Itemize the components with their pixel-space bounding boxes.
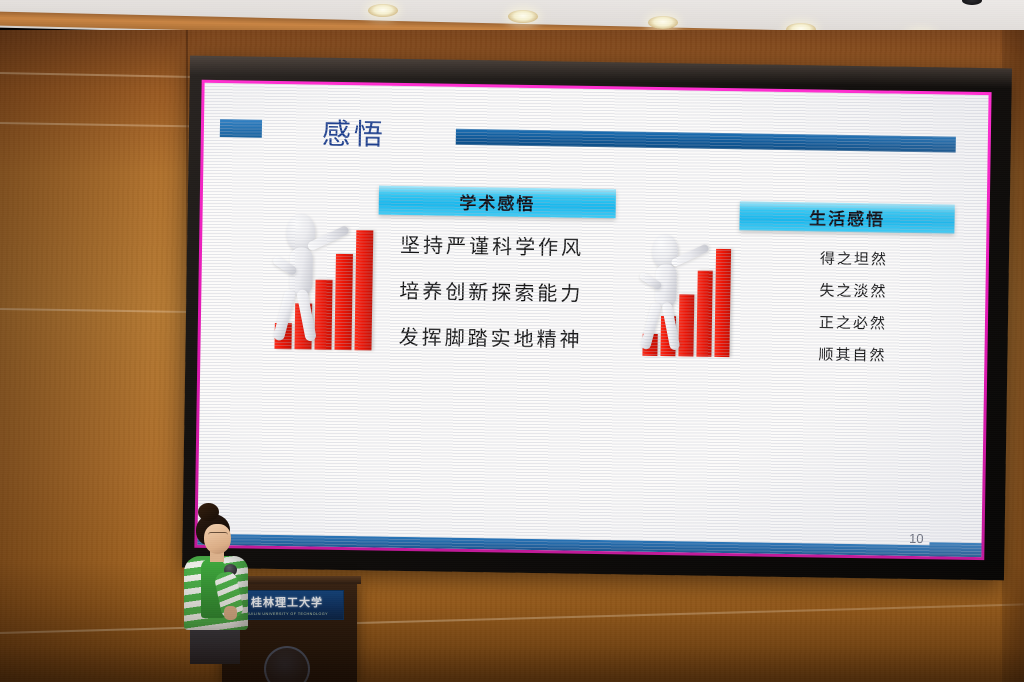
- insight-line: 培养创新探索能力: [399, 275, 583, 307]
- manikin-bar-chart-left: [262, 209, 374, 351]
- slide-decoration-square: [220, 119, 262, 138]
- insight-line: 顺其自然: [797, 343, 907, 366]
- slide-title: 感悟: [322, 111, 387, 154]
- manikin-leg-back: [296, 289, 317, 342]
- ceiling-downlight: [508, 10, 538, 23]
- insight-line: 得之坦然: [799, 247, 909, 270]
- manikin-leg-front: [640, 301, 662, 350]
- manikin-bar-chart-right: [632, 230, 730, 357]
- section-banner-academic-label: 学术感悟: [459, 189, 535, 215]
- ceiling-downlight: [648, 16, 678, 29]
- chart-bar: [354, 230, 373, 350]
- section-banner-life: 生活感悟: [739, 201, 954, 233]
- presenter-glasses: [208, 532, 228, 539]
- manikin-leg-back: [661, 302, 680, 351]
- presenter-face: [204, 524, 231, 554]
- manikin-figure: [636, 234, 716, 355]
- slide-footer-square: [929, 542, 981, 557]
- insight-line: 正之必然: [798, 311, 908, 334]
- foreground-shadow: [0, 562, 1024, 682]
- slide-title-bar: [456, 129, 956, 153]
- insight-line: 失之淡然: [798, 279, 908, 302]
- insight-line: 发挥脚踏实地精神: [398, 321, 582, 353]
- slide-panel: 感悟 学术感悟 生活感悟: [197, 83, 988, 557]
- conference-hall-photo: 感悟 学术感悟 生活感悟: [0, 0, 1024, 682]
- academic-insight-list: 坚持严谨科学作风 培养创新探索能力 发挥脚踏实地精神: [398, 229, 584, 370]
- manikin-leg-front: [273, 289, 297, 342]
- manikin-figure: [269, 213, 357, 348]
- section-banner-life-label: 生活感悟: [809, 204, 885, 230]
- section-banner-academic: 学术感悟: [379, 186, 616, 219]
- ceiling-downlight: [368, 4, 398, 17]
- chart-bar: [714, 249, 731, 357]
- presentation-slide: 感悟 学术感悟 生活感悟: [197, 83, 988, 557]
- slide-page-number: 10: [909, 531, 924, 546]
- presenter-hair-bun: [198, 503, 219, 521]
- insight-line: 坚持严谨科学作风: [400, 229, 584, 261]
- life-insight-list: 得之坦然 失之淡然 正之必然 顺其自然: [797, 247, 909, 377]
